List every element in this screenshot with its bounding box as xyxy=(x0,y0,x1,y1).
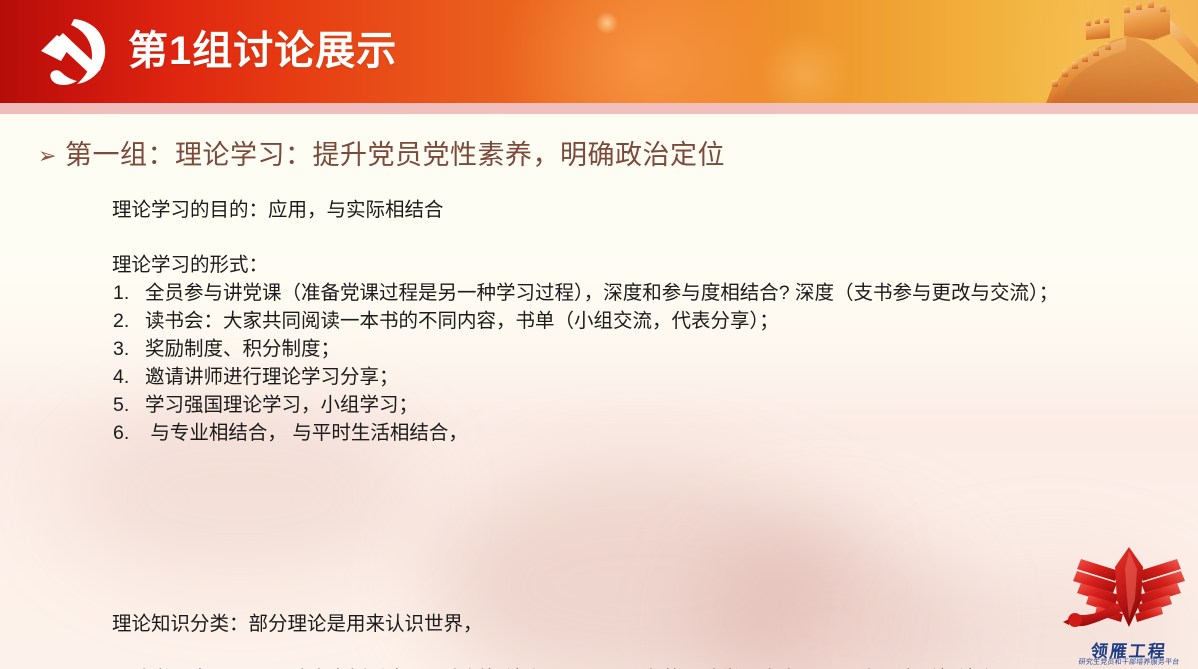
list-item: 3. 奖励制度、积分制度； xyxy=(112,335,1172,363)
list-item-number: 5. xyxy=(112,391,145,419)
header-lens-flare xyxy=(596,12,618,34)
forms-list: 1. 全员参与讲党课（准备党课过程是另一种学习过程），深度和参与度相结合? 深度… xyxy=(112,279,1172,447)
list-item-text: 奖励制度、积分制度； xyxy=(145,335,1172,363)
header-underline xyxy=(0,103,1198,114)
section-heading-text: 第一组：理论学习：提升党员党性素养，明确政治定位 xyxy=(65,136,725,174)
slide-content: ➢ 第一组：理论学习：提升党员党性素养，明确政治定位 理论学习的目的：应用，与实… xyxy=(0,114,1198,669)
list-item-text: 与专业相结合， 与平时生活相结合， xyxy=(145,419,1172,447)
list-item: 2. 读书会：大家共同阅读一本书的不同内容，书单（小组交流，代表分享）； xyxy=(112,307,1172,335)
logo-tagline: 研究生党员和干部培养服务平台 xyxy=(1062,657,1195,667)
page-title: 第1组讨论展示 xyxy=(128,22,397,80)
hammer-and-sickle-icon xyxy=(33,17,111,87)
tail-text-block: 理论知识分类：部分理论是用来认识世界， 理论学习步骤：1. 通读全文划重点，与实… xyxy=(112,610,1132,669)
list-item-number: 3. xyxy=(112,335,145,363)
header-glow xyxy=(500,0,790,103)
list-item-text: 全员参与讲党课（准备党课过程是另一种学习过程），深度和参与度相结合? 深度（支书… xyxy=(145,279,1172,307)
slide: 第1组讨论展示 ➢ 第一组：理论学习：提升党员党性素养，明确政治定位 理论学习的… xyxy=(0,0,1198,669)
header-glow xyxy=(760,30,850,103)
list-item: 6. 与专业相结合， 与平时生活相结合， xyxy=(112,419,1172,447)
list-item-number: 2. xyxy=(112,307,145,335)
lingyan-program-logo: 领雁工程 研究生党员和干部培养服务平台 xyxy=(1063,541,1195,669)
list-item-number: 6. xyxy=(112,419,145,447)
steps-line: 理论学习步骤：1. 通读全文划重点，与实例相结合；2. 运用现有的理论学习内容；… xyxy=(112,665,1132,669)
list-item: 4. 邀请讲师进行理论学习分享； xyxy=(112,363,1172,391)
flying-goose-icon xyxy=(1063,541,1195,641)
list-item-number: 1. xyxy=(112,279,145,307)
classification-line: 理论知识分类：部分理论是用来认识世界， xyxy=(112,610,1132,638)
list-item-text: 读书会：大家共同阅读一本书的不同内容，书单（小组交流，代表分享）； xyxy=(145,307,1172,335)
body-text-block: 理论学习的目的：应用，与实际相结合 理论学习的形式： 1. 全员参与讲党课（准备… xyxy=(112,196,1172,447)
forms-label: 理论学习的形式： xyxy=(112,251,1172,279)
section-heading: ➢ 第一组：理论学习：提升党员党性素养，明确政治定位 xyxy=(38,136,725,176)
list-item: 5. 学习强国理论学习，小组学习； xyxy=(112,391,1172,419)
arrow-bullet-icon: ➢ xyxy=(38,136,65,176)
list-item-text: 邀请讲师进行理论学习分享； xyxy=(145,363,1172,391)
list-item: 1. 全员参与讲党课（准备党课过程是另一种学习过程），深度和参与度相结合? 深度… xyxy=(112,279,1172,307)
great-wall-icon xyxy=(948,0,1198,103)
purpose-line: 理论学习的目的：应用，与实际相结合 xyxy=(112,196,1172,224)
list-item-text: 学习强国理论学习，小组学习； xyxy=(145,391,1172,419)
header-bar: 第1组讨论展示 xyxy=(0,0,1198,103)
list-item-number: 4. xyxy=(112,363,145,391)
